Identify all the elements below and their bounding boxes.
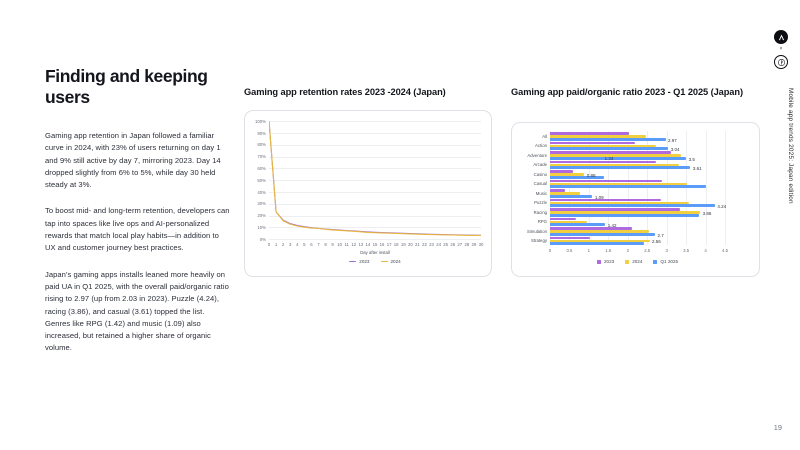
ratio-bar-Q1 2025 xyxy=(550,166,690,169)
ratio-category-label: Racing xyxy=(514,210,547,215)
ratio-bar-Q1 2025 xyxy=(550,223,605,226)
ratio-bar-2023 xyxy=(550,180,662,183)
ratio-chart-card: 00.511.522.533.544.5All2.97Action3.04Adv… xyxy=(511,122,760,277)
ratio-adventure-note: 1.34 xyxy=(605,156,614,161)
ratio-bar-Q1 2025 xyxy=(550,204,715,207)
retention-y-tick: 30% xyxy=(248,201,266,206)
ratio-value-label: 4.24 xyxy=(717,204,726,209)
ratio-bar-Q1 2025 xyxy=(550,242,644,245)
retention-chart-card: 0%10%20%30%40%50%60%70%80%90%100%0123456… xyxy=(244,110,492,277)
partner-logo-icon xyxy=(774,55,788,69)
legend-item-2023[interactable]: 2023 xyxy=(349,259,369,264)
ratio-legend: 20232024Q1 2025 xyxy=(594,259,682,264)
ratio-x-tick: 0.5 xyxy=(562,248,576,253)
ratio-bar-Q1 2025 xyxy=(550,214,699,217)
retention-x-axis-title: Day after install xyxy=(353,250,397,255)
retention-series-group xyxy=(269,121,481,239)
gridline-vertical xyxy=(725,131,726,245)
ratio-bar-Q1 2025 xyxy=(550,195,592,198)
ratio-value-label: 2.7 xyxy=(658,233,664,238)
legend-swatch-icon xyxy=(381,261,388,262)
legend-label: 2024 xyxy=(391,259,401,264)
retention-y-tick: 10% xyxy=(248,225,266,230)
retention-x-tick: 30 xyxy=(476,242,486,247)
retention-y-tick: 50% xyxy=(248,178,266,183)
retention-y-tick: 20% xyxy=(248,213,266,218)
ratio-chart-panel: Gaming app paid/organic ratio 2023 - Q1 … xyxy=(511,86,760,277)
retention-chart-title: Gaming app retention rates 2023 -2024 (J… xyxy=(244,86,492,98)
body-paragraph-3: Japan's gaming apps installs leaned more… xyxy=(45,269,230,355)
ratio-bar-Q1 2025 xyxy=(550,185,706,188)
ratio-category-label: Adventure xyxy=(514,153,547,158)
ratio-value-label: 2.56 xyxy=(652,239,661,244)
ratio-bar-Q1 2025 xyxy=(550,233,655,236)
page-number: 19 xyxy=(774,423,782,432)
retention-legend: 20232024 xyxy=(345,259,405,264)
legend-swatch-icon xyxy=(597,260,601,264)
legend-label: 2023 xyxy=(604,259,614,264)
ratio-category-label: Action xyxy=(514,143,547,148)
ratio-x-tick: 4.5 xyxy=(718,248,732,253)
legend-swatch-icon xyxy=(349,261,356,262)
gridline-vertical xyxy=(706,131,707,245)
ratio-bar-2023 xyxy=(550,142,635,145)
ratio-x-tick: 0 xyxy=(543,248,557,253)
logo-lockup: × xyxy=(774,30,788,69)
gridline-horizontal xyxy=(269,239,481,240)
ratio-bar-2023 xyxy=(550,199,661,202)
ratio-value-label: 3.04 xyxy=(671,147,680,152)
ratio-bar-Q1 2025 xyxy=(550,147,668,150)
ratio-value-label: 3.5 xyxy=(689,157,695,162)
retention-line-2024 xyxy=(269,121,481,235)
legend-label: 2024 xyxy=(632,259,642,264)
ratio-category-label: Casino xyxy=(514,172,547,177)
legend-item-2024[interactable]: 2024 xyxy=(381,259,401,264)
retention-y-tick: 40% xyxy=(248,190,266,195)
ratio-category-label: Puzzle xyxy=(514,200,547,205)
retention-y-tick: 100% xyxy=(248,119,266,124)
ratio-x-tick: 4 xyxy=(699,248,713,253)
ratio-category-label: Simulation xyxy=(514,229,547,234)
deck-rail-title: Mobile app trends 2025: Japan edition xyxy=(787,88,794,204)
ratio-bar-Q1 2025 xyxy=(550,157,686,160)
ratio-x-tick: 1.5 xyxy=(601,248,615,253)
ratio-bar-Q1 2025 xyxy=(550,176,604,179)
ratio-value-label: 0.88 xyxy=(587,173,596,178)
ratio-x-tick: 2 xyxy=(621,248,635,253)
ratio-x-tick: 2.5 xyxy=(640,248,654,253)
retention-line-2023 xyxy=(269,121,481,235)
retention-y-tick: 60% xyxy=(248,166,266,171)
retention-plot-area: 0%10%20%30%40%50%60%70%80%90%100%0123456… xyxy=(269,121,481,239)
ratio-value-label: 3.86 xyxy=(703,211,712,216)
legend-swatch-icon xyxy=(653,260,657,264)
ratio-category-label: Music xyxy=(514,191,547,196)
ratio-category-label: Arcade xyxy=(514,162,547,167)
legend-item-2023[interactable]: 2023 xyxy=(597,259,614,264)
appsflyer-logo-icon xyxy=(774,30,788,44)
ratio-category-label: Strategy xyxy=(514,238,547,243)
gridline-vertical xyxy=(686,131,687,245)
retention-y-tick: 90% xyxy=(248,131,266,136)
ratio-value-label: 3.61 xyxy=(693,166,702,171)
body-paragraph-2: To boost mid- and long-term retention, d… xyxy=(45,205,230,254)
ratio-x-tick: 3.5 xyxy=(679,248,693,253)
logo-separator: × xyxy=(780,47,783,52)
ratio-plot-area: 00.511.522.533.544.5All2.97Action3.04Adv… xyxy=(550,131,725,245)
ratio-x-tick: 1 xyxy=(582,248,596,253)
ratio-category-label: Casual xyxy=(514,181,547,186)
legend-swatch-icon xyxy=(625,260,629,264)
legend-item-2024[interactable]: 2024 xyxy=(625,259,642,264)
ratio-bar-2023 xyxy=(550,237,590,240)
left-text-column: Finding and keeping users Gaming app ret… xyxy=(45,66,230,369)
retention-y-tick: 70% xyxy=(248,154,266,159)
ratio-chart-title: Gaming app paid/organic ratio 2023 - Q1 … xyxy=(511,86,760,98)
legend-item-Q1-2025[interactable]: Q1 2025 xyxy=(653,259,678,264)
ratio-bar-2023 xyxy=(550,218,576,221)
ratio-bar-2023 xyxy=(550,161,656,164)
legend-label: Q1 2025 xyxy=(660,259,678,264)
ratio-value-label: 2.97 xyxy=(668,138,677,143)
legend-label: 2023 xyxy=(359,259,369,264)
body-paragraph-1: Gaming app retention in Japan followed a… xyxy=(45,130,230,191)
ratio-category-label: RPG xyxy=(514,219,547,224)
ratio-bar-Q1 2025 xyxy=(550,138,666,141)
ratio-category-label: All xyxy=(514,134,547,139)
page-title: Finding and keeping users xyxy=(45,66,230,108)
retention-chart-panel: Gaming app retention rates 2023 -2024 (J… xyxy=(244,86,492,277)
ratio-x-tick: 3 xyxy=(660,248,674,253)
retention-y-tick: 80% xyxy=(248,142,266,147)
